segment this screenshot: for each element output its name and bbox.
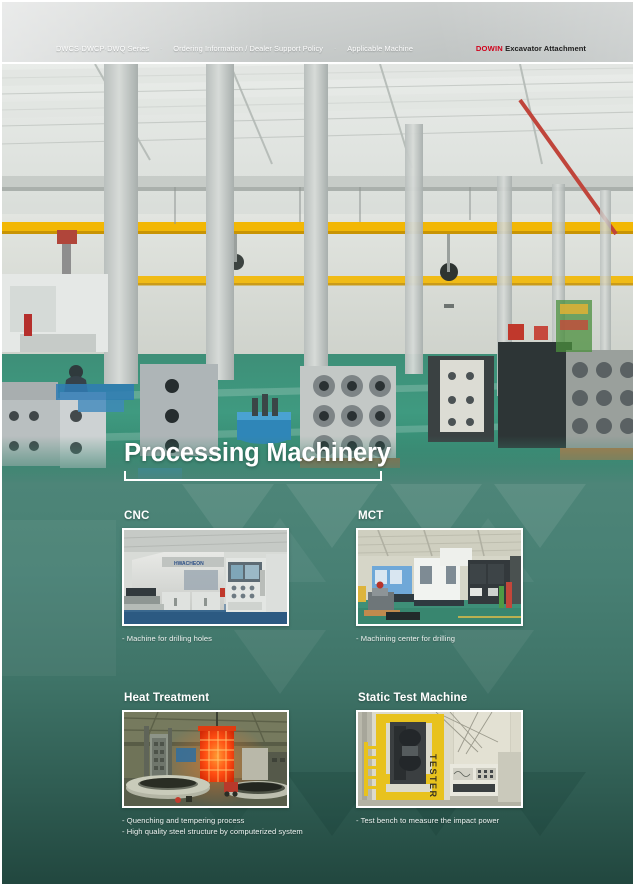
brochure-page: DWCS·DWCP·DWQ Series · Ordering Informat… bbox=[0, 0, 641, 888]
section-caption: - Test bench to measure the impact power bbox=[356, 815, 523, 826]
section-title: CNC bbox=[124, 509, 289, 522]
caption-line: - Machine for drilling holes bbox=[122, 633, 289, 644]
page-frame-left bbox=[0, 0, 2, 888]
section-title: Heat Treatment bbox=[124, 691, 303, 704]
hero-photo bbox=[0, 64, 641, 484]
caption-line: - Quenching and tempering process bbox=[122, 815, 303, 826]
page-title: Processing Machinery bbox=[124, 441, 391, 467]
static-test-machine-photo[interactable]: TESTER bbox=[356, 710, 523, 808]
breadcrumb-item-applicable-machine[interactable]: Applicable Machine bbox=[347, 44, 413, 53]
section-title: MCT bbox=[358, 509, 523, 522]
page-title-text: Processing Machinery bbox=[124, 441, 391, 467]
brand-logo: DOWIN Excavator Attachment bbox=[476, 44, 586, 53]
page-frame-top bbox=[0, 0, 641, 2]
heat-treatment-furnace-photo[interactable] bbox=[122, 710, 289, 808]
caption-line: - Test bench to measure the impact power bbox=[356, 815, 523, 826]
breadcrumb-item-ordering[interactable]: Ordering Information / Dealer Support Po… bbox=[173, 44, 323, 53]
section-caption: - Machine for drilling holes bbox=[122, 633, 289, 644]
caption-line: - High quality steel structure by comput… bbox=[122, 826, 303, 837]
header-sheen-right bbox=[333, 0, 641, 64]
section-card-heat-treatment: Heat Treatment bbox=[122, 691, 303, 837]
svg-text:TESTER: TESTER bbox=[428, 754, 438, 799]
brand-name: DOWIN bbox=[476, 44, 503, 53]
header-sheen-left bbox=[0, 0, 391, 64]
section-caption: - Machining center for drilling bbox=[356, 633, 523, 644]
section-grid: CNC bbox=[0, 484, 641, 888]
section-card-static-test-machine: Static Test Machine bbox=[356, 691, 523, 826]
svg-text:HWACHEON: HWACHEON bbox=[174, 561, 204, 567]
caption-line: - Machining center for drilling bbox=[356, 633, 523, 644]
cnc-lathe-photo[interactable]: HWACHEON bbox=[122, 528, 289, 626]
section-title: Static Test Machine bbox=[358, 691, 523, 704]
breadcrumb-item-series[interactable]: DWCS·DWCP·DWQ Series bbox=[56, 44, 149, 53]
page-frame-bottom bbox=[0, 884, 641, 888]
breadcrumb-separator: · bbox=[323, 46, 347, 52]
title-rule-tick-right bbox=[380, 471, 382, 480]
brand-tagline: Excavator Attachment bbox=[505, 44, 586, 53]
machining-center-photo[interactable] bbox=[356, 528, 523, 626]
header-band bbox=[0, 0, 641, 64]
section-caption: - Quenching and tempering process - High… bbox=[122, 815, 303, 837]
title-rule bbox=[124, 479, 382, 481]
breadcrumb-separator: · bbox=[149, 46, 173, 52]
breadcrumb: DWCS·DWCP·DWQ Series · Ordering Informat… bbox=[56, 44, 413, 53]
section-card-cnc: CNC bbox=[122, 509, 289, 644]
section-card-mct: MCT bbox=[356, 509, 523, 644]
page-frame-right bbox=[633, 0, 641, 888]
content-panel: CNC bbox=[0, 484, 641, 888]
